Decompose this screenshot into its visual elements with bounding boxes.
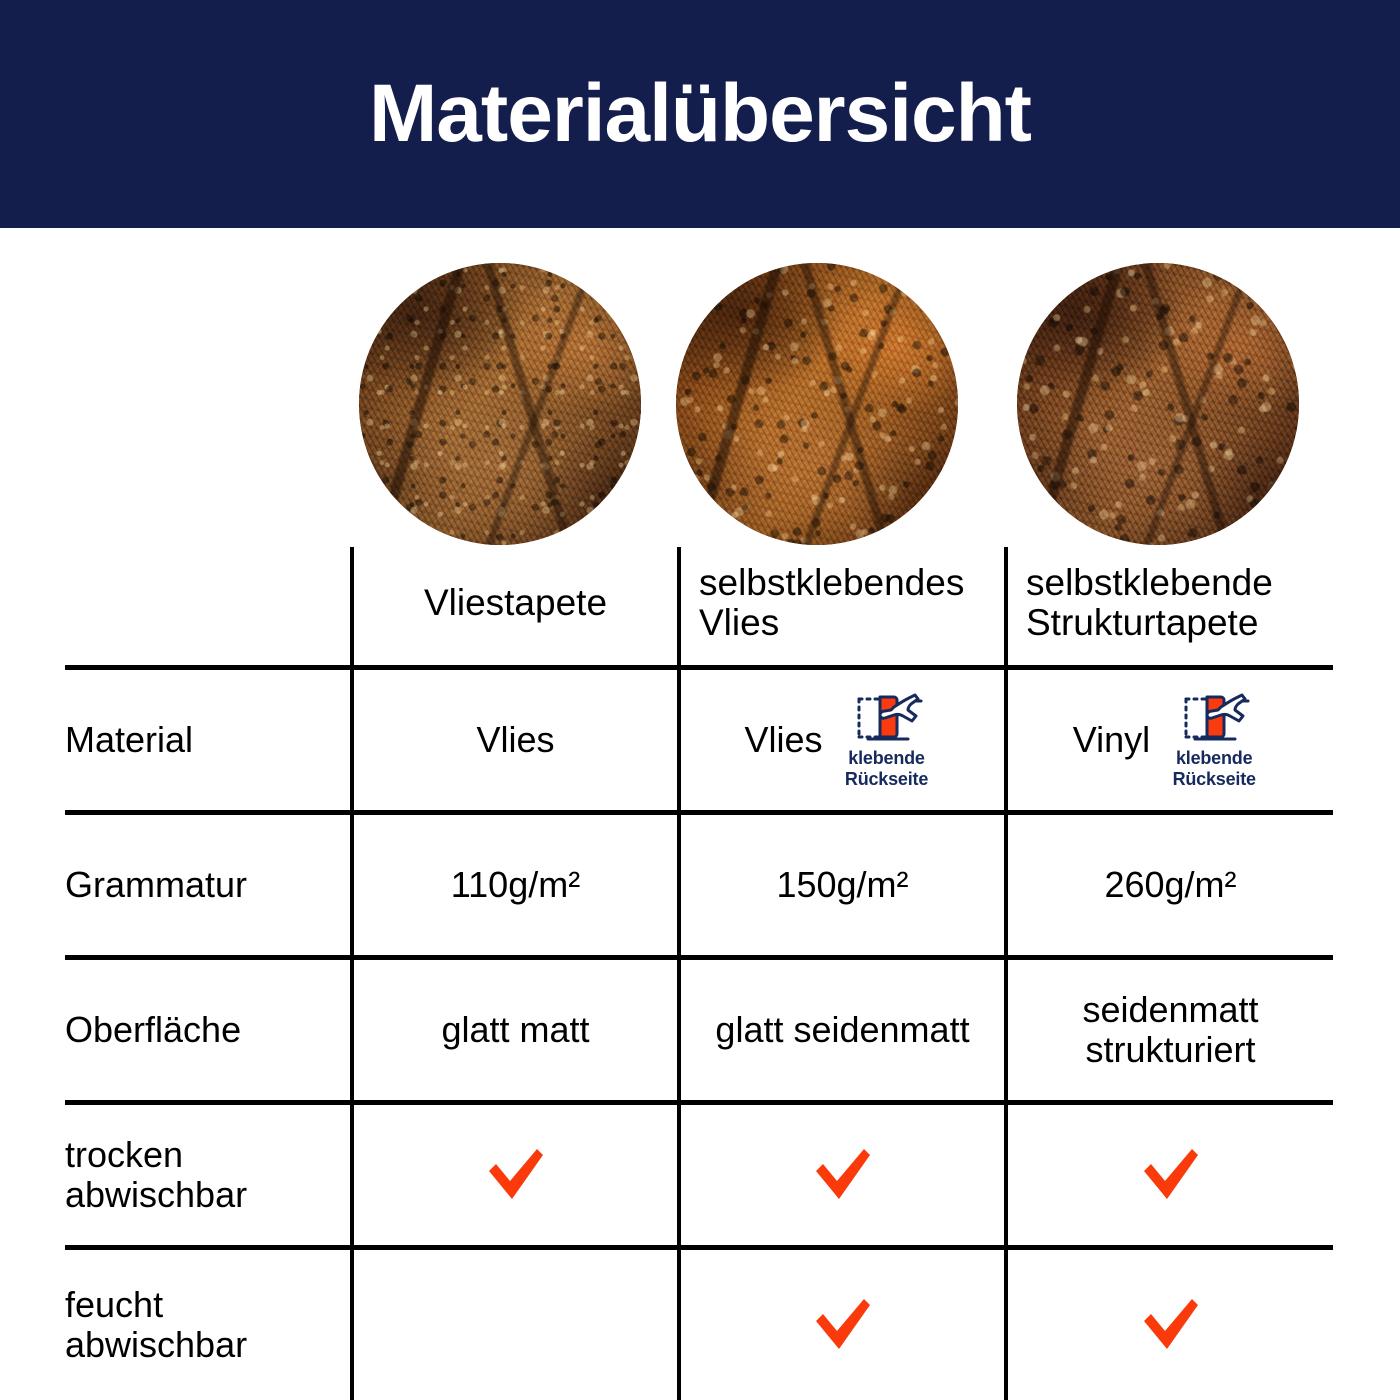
cell-value: Vinyl [1073, 720, 1150, 760]
row-label: Oberfläche [65, 958, 352, 1103]
badge-text: klebende Rückseite [1173, 748, 1256, 790]
badge-line-1: klebende [848, 748, 924, 768]
cell-oberflaeche-selbstklebende-strukturtapete: seidenmatt strukturiert [1006, 958, 1333, 1103]
cell-trocken-selbstklebendes-vlies [679, 1103, 1006, 1248]
table-row-oberflaeche: Oberfläche glatt matt glatt seidenmatt s… [65, 958, 1333, 1103]
cell-value: 150g/m² [776, 865, 908, 905]
check-container [1008, 1297, 1333, 1353]
klebende-rueckseite-badge: klebende Rückseite [1160, 690, 1268, 790]
peel-sticker-icon [850, 690, 924, 746]
swatch-selbstklebende-strukturtapete [1017, 263, 1299, 545]
cell-oberflaeche-selbstklebendes-vlies: glatt seidenmatt [679, 958, 1006, 1103]
material-comparison-table: Vliestapete selbstklebendes Vlies selbst… [65, 547, 1333, 1400]
table-header-row: Vliestapete selbstklebendes Vlies selbst… [65, 547, 1333, 668]
cell-feucht-selbstklebende-strukturtapete [1006, 1248, 1333, 1400]
check-icon [485, 1147, 547, 1203]
cell-feucht-selbstklebendes-vlies [679, 1248, 1006, 1400]
cell-oberflaeche-vliestapete: glatt matt [352, 958, 679, 1103]
table-row-grammatur: Grammatur 110g/m² 150g/m² 260g/m² [65, 813, 1333, 958]
check-container [681, 1297, 1004, 1353]
material-swatch-row [0, 263, 1400, 547]
column-header-label: selbstklebendes Vlies [691, 563, 994, 643]
cell-material-vliestapete: Vlies [352, 668, 679, 813]
check-icon [812, 1297, 874, 1353]
badge-line-1: klebende [1176, 748, 1252, 768]
cell-grammatur-selbstklebende-strukturtapete: 260g/m² [1006, 813, 1333, 958]
texture-vignette [1017, 263, 1299, 545]
material-comparison-table-wrap: Vliestapete selbstklebendes Vlies selbst… [0, 547, 1400, 1400]
cell-grammatur-selbstklebendes-vlies: 150g/m² [679, 813, 1006, 958]
swatch-vliestapete [359, 263, 641, 545]
table-corner-cell [65, 547, 352, 668]
cell-value: Vlies [744, 720, 822, 760]
row-label: Grammatur [65, 813, 352, 958]
check-icon [1140, 1147, 1202, 1203]
cell-value: seidenmatt strukturiert [1008, 990, 1333, 1071]
cell-grammatur-vliestapete: 110g/m² [352, 813, 679, 958]
column-header-selbstklebende-strukturtapete: selbstklebende Strukturtapete [1006, 547, 1333, 668]
badge-text: klebende Rückseite [845, 748, 928, 790]
column-header-label: Vliestapete [364, 583, 667, 623]
column-header-selbstklebendes-vlies: selbstklebendes Vlies [679, 547, 1006, 668]
table-row-material: Material Vlies Vlies [65, 668, 1333, 813]
swatch-selbstklebendes-vlies [676, 263, 958, 545]
badge-line-2: Rückseite [845, 769, 928, 789]
cell-trocken-vliestapete [352, 1103, 679, 1248]
table-row-feucht-abwischbar: feucht abwischbar [65, 1248, 1333, 1400]
check-icon [812, 1147, 874, 1203]
texture-vignette [359, 263, 641, 545]
badge-line-2: Rückseite [1173, 769, 1256, 789]
header-banner: Materialübersicht [0, 0, 1400, 228]
texture-vignette [676, 263, 958, 545]
column-header-label: selbstklebende Strukturtapete [1018, 563, 1323, 643]
cell-value: glatt matt [354, 1010, 677, 1050]
cell-value: 110g/m² [451, 865, 580, 905]
cell-feucht-vliestapete [352, 1248, 679, 1400]
cell-value: glatt seidenmatt [681, 1010, 1004, 1050]
check-container [354, 1147, 677, 1203]
cell-material-selbstklebendes-vlies: Vlies [679, 668, 1006, 813]
check-container [681, 1147, 1004, 1203]
check-container [1008, 1147, 1333, 1203]
table-row-trocken-abwischbar: trocken abwischbar [65, 1103, 1333, 1248]
cell-value: Vlies [476, 720, 554, 760]
page-title: Materialübersicht [369, 73, 1031, 155]
row-label: feucht abwischbar [65, 1248, 352, 1400]
cell-material-selbstklebende-strukturtapete: Vinyl [1006, 668, 1333, 813]
column-header-vliestapete: Vliestapete [352, 547, 679, 668]
cell-trocken-selbstklebende-strukturtapete [1006, 1103, 1333, 1248]
peel-sticker-icon [1177, 690, 1251, 746]
check-icon [1140, 1297, 1202, 1353]
cell-value: 260g/m² [1104, 865, 1236, 905]
klebende-rueckseite-badge: klebende Rückseite [833, 690, 941, 790]
row-label: Material [65, 668, 352, 813]
row-label: trocken abwischbar [65, 1103, 352, 1248]
